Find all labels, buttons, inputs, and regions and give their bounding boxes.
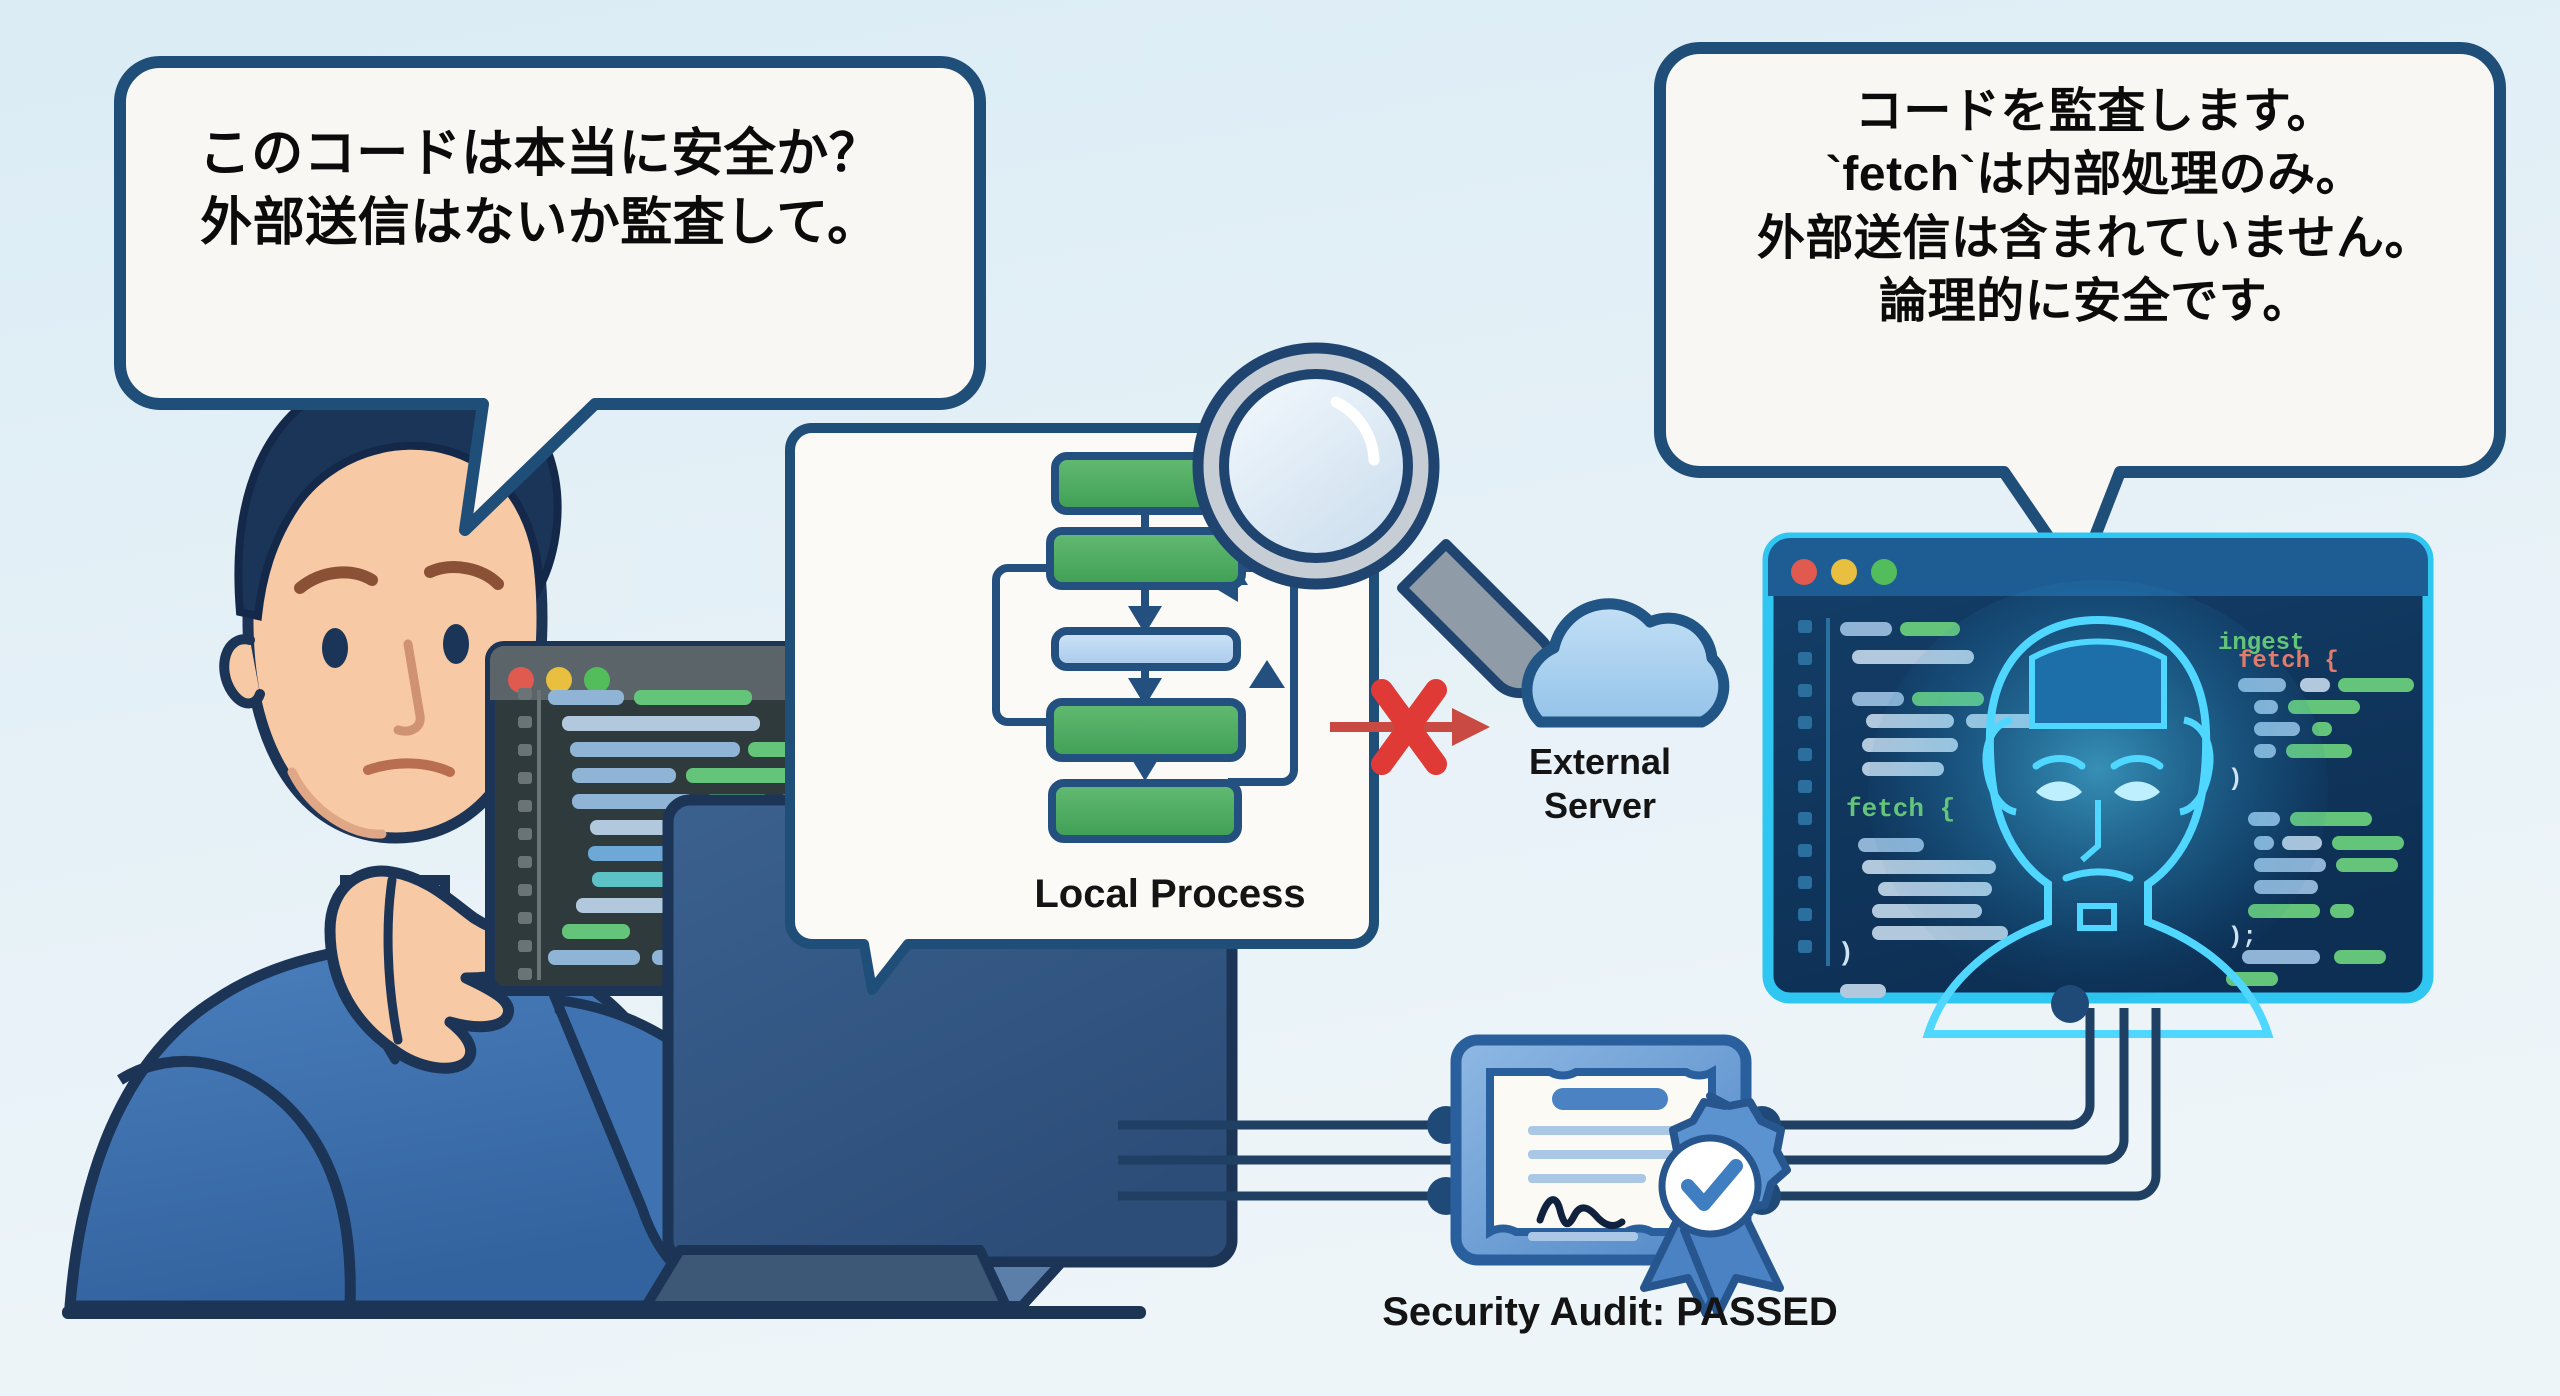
traffic-light-green-icon <box>584 667 610 693</box>
eye-left <box>322 628 348 668</box>
illustration-canvas: このコードは本当に安全か？ 外部送信はないか監査して。 コードを監査します。 `… <box>0 0 2560 1396</box>
code-rule <box>537 690 541 980</box>
flow-node-5[interactable] <box>1052 783 1238 839</box>
certificate-title-bar <box>1552 1088 1668 1110</box>
ai-monitor <box>1768 538 2428 1034</box>
keyboard <box>646 1250 1006 1306</box>
ai-traffic-light-yellow-icon <box>1831 559 1857 585</box>
robot-crown-panel <box>2032 642 2164 727</box>
ai-traffic-light-red-icon <box>1791 559 1817 585</box>
flow-node-4[interactable] <box>1050 702 1242 758</box>
rosette-center <box>1662 1138 1758 1234</box>
flow-node-3[interactable] <box>1055 631 1237 667</box>
certificate-signature-line <box>1528 1232 1638 1241</box>
magnifier-lens <box>1224 374 1408 558</box>
traffic-light-yellow-icon <box>546 667 572 693</box>
ai-code-rule <box>1826 618 1830 966</box>
eye-right <box>443 624 469 664</box>
trace-dot-top-riser <box>2051 985 2089 1023</box>
flow-node-2[interactable] <box>1050 531 1242 586</box>
ai-traffic-light-green-icon <box>1871 559 1897 585</box>
